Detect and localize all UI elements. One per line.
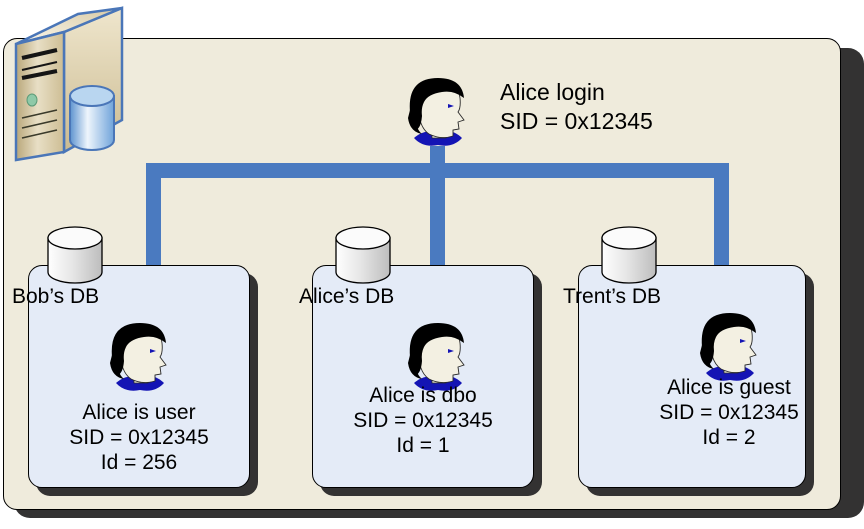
trents-db-sid: SID = 0x12345 <box>618 400 840 425</box>
bobs-db-user-face-icon <box>98 313 182 397</box>
trents-db-id: Id = 2 <box>618 425 840 450</box>
bobs-db-cylinder-icon <box>42 224 108 290</box>
alices-db-cylinder-icon <box>330 224 396 290</box>
diagram-canvas: Alice login SID = 0x12345 Bob’s DB Alice… <box>0 0 864 529</box>
alices-db-id: Id = 1 <box>312 433 534 458</box>
alices-db-label: Alice’s DB <box>299 285 394 309</box>
login-face-icon <box>396 68 480 152</box>
alices-db-role: Alice is dbo <box>312 383 534 408</box>
login-label-line2: SID = 0x12345 <box>500 107 653 136</box>
bobs-db-sid: SID = 0x12345 <box>28 425 250 450</box>
alices-db-sid: SID = 0x12345 <box>312 408 534 433</box>
bobs-db-id: Id = 256 <box>28 450 250 475</box>
bobs-db-label: Bob’s DB <box>12 285 99 309</box>
server-tower-icon <box>2 0 127 166</box>
trents-db-text: Alice is guest SID = 0x12345 Id = 2 <box>618 375 840 450</box>
alices-db-text: Alice is dbo SID = 0x12345 Id = 1 <box>312 383 534 458</box>
trents-db-label: Trent’s DB <box>563 285 661 309</box>
login-label-line1: Alice login <box>500 78 653 107</box>
bobs-db-role: Alice is user <box>28 400 250 425</box>
trents-db-cylinder-icon <box>596 224 662 290</box>
bobs-db-text: Alice is user SID = 0x12345 Id = 256 <box>28 400 250 475</box>
trents-db-role: Alice is guest <box>618 375 840 400</box>
login-label: Alice login SID = 0x12345 <box>500 78 653 136</box>
